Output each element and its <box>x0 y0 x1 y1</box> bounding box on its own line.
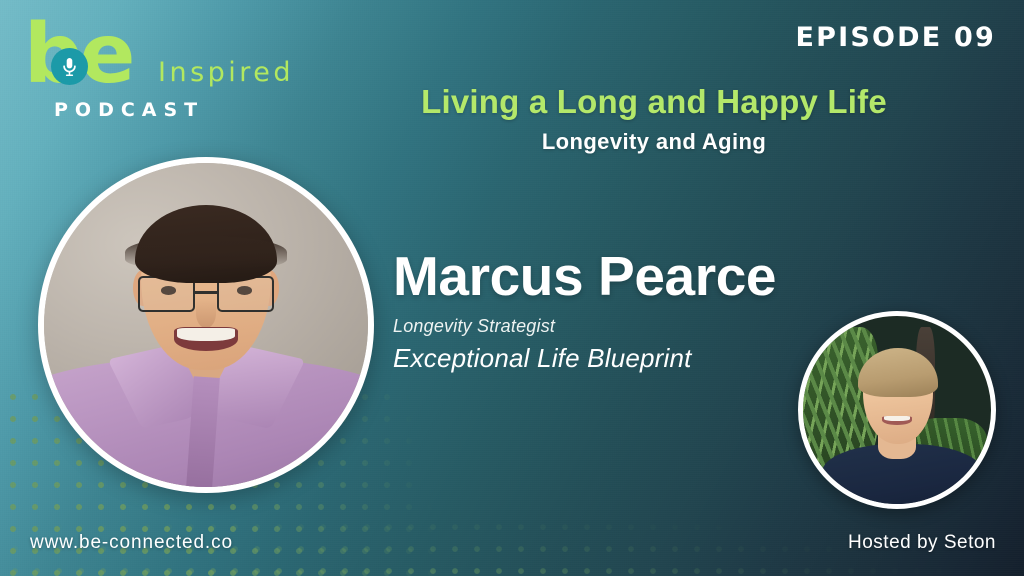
episode-subtitle: Longevity and Aging <box>300 129 1008 155</box>
guest-company: Exceptional Life Blueprint <box>393 343 863 374</box>
guest-role: Longevity Strategist <box>393 316 863 337</box>
guest-name: Marcus Pearce <box>393 246 863 306</box>
episode-number-label: EPISODE 09 <box>795 22 996 53</box>
podcast-episode-card: be Inspired PODCAST EPISODE 09 Living a … <box>0 0 1024 576</box>
host-avatar <box>798 311 996 509</box>
guest-avatar <box>38 157 374 493</box>
host-credit: Hosted by Seton <box>848 532 996 554</box>
logo-tagline: Inspired <box>158 57 294 88</box>
logo-kicker: PODCAST <box>54 99 204 121</box>
episode-title: Living a Long and Happy Life <box>300 82 1008 122</box>
website-url[interactable]: www.be-connected.co <box>30 532 233 554</box>
microphone-icon <box>51 48 88 85</box>
episode-title-block: Living a Long and Happy Life Longevity a… <box>300 82 1008 155</box>
guest-details: Marcus Pearce Longevity Strategist Excep… <box>393 246 863 374</box>
